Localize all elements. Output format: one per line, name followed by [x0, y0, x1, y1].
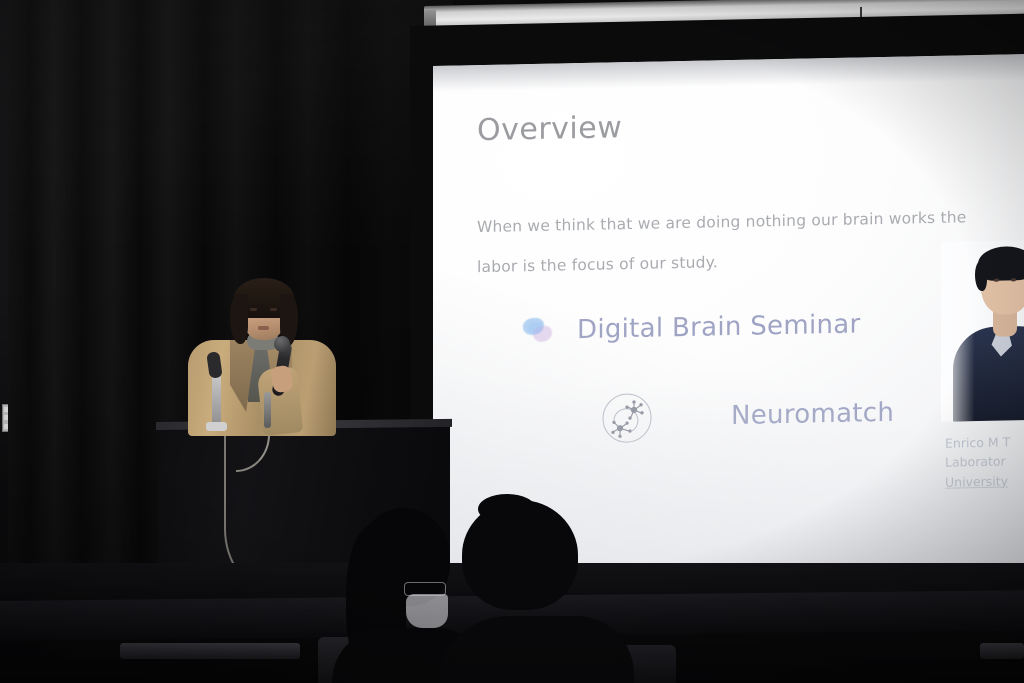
- secondary-microphone-stem: [264, 392, 271, 428]
- speaker-eye-left: [250, 308, 257, 311]
- digital-brain-seminar-blob-icon: [521, 316, 555, 347]
- caption-line-2: Laborator: [945, 452, 1010, 473]
- audience-member-front-right: [444, 500, 624, 683]
- neuromatch-circle-icon: [601, 392, 653, 445]
- rail-left: [120, 643, 300, 659]
- speaker-eye-right: [270, 308, 277, 311]
- speaker-mouth: [258, 326, 269, 330]
- brand-label-digital-brain-seminar: Digital Brain Seminar: [577, 309, 860, 345]
- slide-portrait-photo: [941, 239, 1024, 421]
- presentation-photo-scene: Overview When we think that we are doing…: [0, 0, 1024, 683]
- gooseneck-microphone-base: [206, 422, 227, 431]
- brand-row-neuromatch: Neuromatch: [601, 387, 894, 445]
- caption-line-1: Enrico M T: [945, 432, 1010, 453]
- brand-row-digital-brain-seminar: Digital Brain Seminar: [521, 309, 860, 346]
- rail-right: [980, 643, 1024, 659]
- gooseneck-microphone-stem: [212, 374, 221, 428]
- speaker-hair-left: [230, 294, 248, 344]
- slide-portrait-caption: Enrico M T Laborator University: [945, 432, 1010, 491]
- brand-label-neuromatch: Neuromatch: [731, 398, 894, 431]
- slide-title: Overview: [477, 102, 1024, 148]
- audience-face-mask: [406, 594, 448, 628]
- speaker-presenter: [188, 282, 336, 434]
- caption-line-3: University: [945, 471, 1010, 492]
